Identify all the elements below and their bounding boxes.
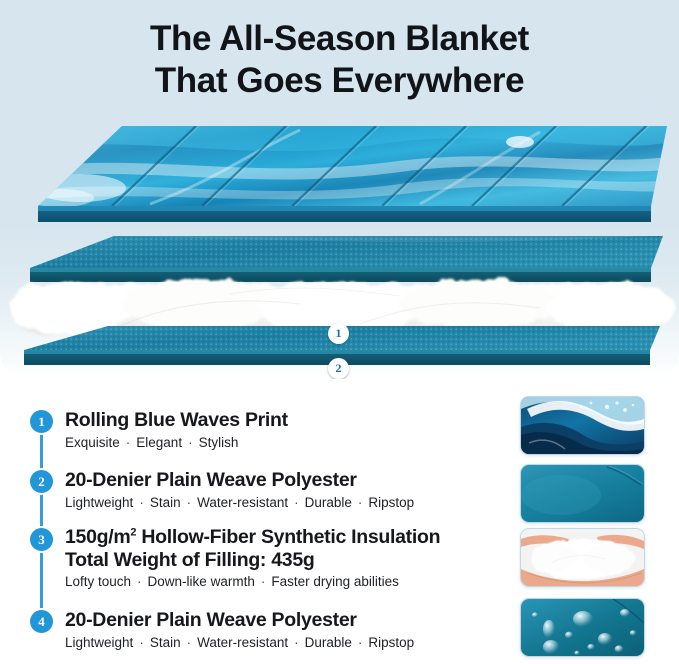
feature-tag: Faster drying abilities: [271, 574, 399, 589]
feature-tag: Exquisite: [65, 435, 120, 450]
badge-connector-line: [40, 424, 43, 620]
feature-tag: Lightweight: [65, 495, 133, 510]
feature-subtitle-1: Exquisite·Elegant·Stylish: [65, 435, 288, 452]
feature-tag: Stylish: [199, 435, 239, 450]
hands-holding-fiberfill-photo: [520, 528, 645, 587]
separator-dot: ·: [181, 495, 198, 510]
title-line-2: That Goes Everywhere: [0, 60, 679, 102]
feature-badge-1: 1: [30, 410, 53, 433]
feature-text-3: 150g/m2 Hollow-Fiber Synthetic Insulatio…: [65, 526, 440, 591]
feature-badge-4: 4: [30, 610, 53, 633]
separator-dot: ·: [181, 635, 198, 650]
feature-tag: Ripstop: [368, 635, 414, 650]
feature-badge-3: 3: [30, 528, 53, 551]
separator-dot: ·: [288, 495, 305, 510]
separator-dot: ·: [255, 574, 272, 589]
separator-dot: ·: [120, 435, 137, 450]
feature-tag: Elegant: [136, 435, 182, 450]
feature-tag: Water-resistant: [197, 635, 288, 650]
separator-dot: ·: [133, 635, 150, 650]
feature-tag: Durable: [305, 635, 352, 650]
feature-tag: Ripstop: [368, 495, 414, 510]
hero-panel: The All-Season Blanket That Goes Everywh…: [0, 0, 679, 379]
feature-text-1: Rolling Blue Waves Print Exquisite·Elega…: [65, 409, 288, 451]
feature-heading-2: 20-Denier Plain Weave Polyester: [65, 469, 414, 492]
feature-heading-3-line-1: 150g/m2 Hollow-Fiber Synthetic Insulatio…: [65, 526, 440, 549]
title-line-1: The All-Season Blanket: [150, 19, 529, 58]
feature-badge-2: 2: [30, 470, 53, 493]
separator-dot: ·: [131, 574, 148, 589]
insulation-weight: 150g/m: [65, 526, 130, 548]
feature-text-2: 20-Denier Plain Weave Polyester Lightwei…: [65, 469, 414, 511]
feature-heading-4: 20-Denier Plain Weave Polyester: [65, 609, 414, 632]
separator-dot: ·: [288, 635, 305, 650]
feature-tag: Lofty touch: [65, 574, 131, 589]
diagram-badge-2: 2: [328, 358, 349, 379]
feature-heading-3-line-2: Total Weight of Filling: 435g: [65, 549, 440, 572]
feature-subtitle-3: Lofty touch·Down-like warmth·Faster dryi…: [65, 574, 440, 591]
page-title: The All-Season Blanket That Goes Everywh…: [0, 18, 679, 102]
feature-subtitle-2: Lightweight·Stain·Water-resistant·Durabl…: [65, 495, 414, 512]
feature-tag: Durable: [305, 495, 352, 510]
feature-text-4: 20-Denier Plain Weave Polyester Lightwei…: [65, 609, 414, 651]
feature-tag: Lightweight: [65, 635, 133, 650]
ocean-wave-photo: [520, 396, 645, 455]
feature-tag: Stain: [150, 635, 181, 650]
feature-tag: Water-resistant: [197, 495, 288, 510]
separator-dot: ·: [352, 635, 369, 650]
diagram-badge-1: 1: [328, 323, 349, 344]
teal-fabric-photo: [520, 464, 645, 523]
feature-heading-1: Rolling Blue Waves Print: [65, 409, 288, 432]
feature-tag: Down-like warmth: [148, 574, 255, 589]
separator-dot: ·: [133, 495, 150, 510]
infographic-page: The All-Season Blanket That Goes Everywh…: [0, 0, 679, 664]
separator-dot: ·: [352, 495, 369, 510]
feature-tag: Stain: [150, 495, 181, 510]
water-droplets-on-fabric-photo: [520, 598, 645, 657]
feature-subtitle-4: Lightweight·Stain·Water-resistant·Durabl…: [65, 635, 414, 652]
insulation-type: Hollow-Fiber Synthetic Insulation: [136, 526, 440, 548]
separator-dot: ·: [182, 435, 199, 450]
exploded-layer-diagram: 1 2 3 4: [0, 118, 679, 368]
